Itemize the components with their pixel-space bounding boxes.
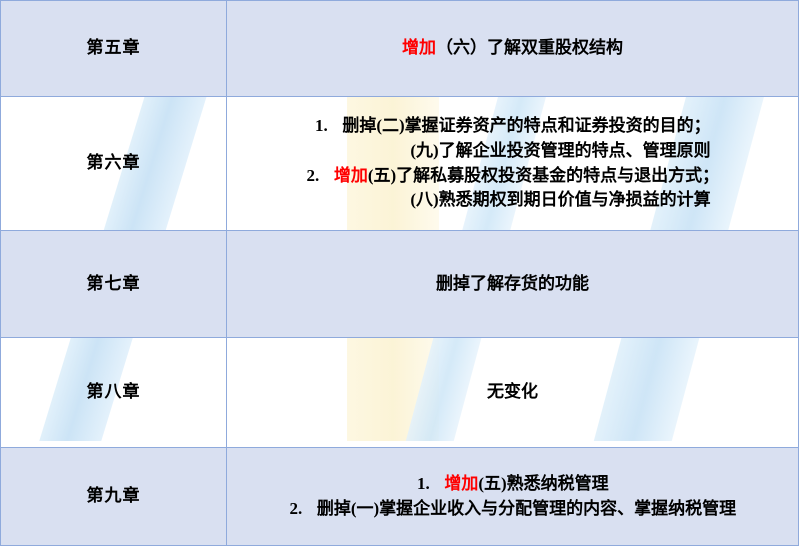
change-text: (五)熟悉纳税管理 xyxy=(478,474,608,493)
table-row: 第九章1.增加(五)熟悉纳税管理2.删掉(一)掌握企业收入与分配管理的内容、掌握… xyxy=(1,448,799,546)
chapter-label-cell: 第九章 xyxy=(1,448,227,546)
chapter-label-cell: 第六章 xyxy=(1,97,227,231)
change-text: 删掉了解存货的功能 xyxy=(436,274,589,293)
change-line: 增加（六）了解双重股权结构 xyxy=(231,36,794,61)
change-text: (九)了解企业投资管理的特点、管理原则 xyxy=(410,141,710,160)
change-line: 无变化 xyxy=(231,380,794,405)
table-body: 第五章增加（六）了解双重股权结构第六章1.删掉(二)掌握证券资产的特点和证券投资… xyxy=(1,1,799,546)
change-line: (八)熟悉期权到期日价值与净损益的计算 xyxy=(231,188,794,213)
list-number: 2. xyxy=(289,497,303,522)
table-row: 第六章1.删掉(二)掌握证券资产的特点和证券投资的目的；(九)了解企业投资管理的… xyxy=(1,97,799,231)
change-detail-cell: 1.删掉(二)掌握证券资产的特点和证券投资的目的；(九)了解企业投资管理的特点、… xyxy=(227,97,799,231)
list-number: 1. xyxy=(314,114,328,139)
table-row: 第八章无变化 xyxy=(1,338,799,448)
change-text: 删掉(二)掌握证券资产的特点和证券投资的目的； xyxy=(342,116,710,135)
list-number: 2. xyxy=(306,164,320,189)
table-row: 第七章删掉了解存货的功能 xyxy=(1,231,799,338)
change-detail-cell: 增加（六）了解双重股权结构 xyxy=(227,1,799,97)
change-text: (八)熟悉期权到期日价值与净损益的计算 xyxy=(410,190,710,209)
change-line: (九)了解企业投资管理的特点、管理原则 xyxy=(231,139,794,164)
list-number: 1. xyxy=(416,472,430,497)
chapter-label-cell: 第七章 xyxy=(1,231,227,338)
change-line: 删掉了解存货的功能 xyxy=(231,272,794,297)
change-detail-cell: 1.增加(五)熟悉纳税管理2.删掉(一)掌握企业收入与分配管理的内容、掌握纳税管… xyxy=(227,448,799,546)
change-detail-cell: 无变化 xyxy=(227,338,799,448)
change-line: 1.删掉(二)掌握证券资产的特点和证券投资的目的； xyxy=(231,114,794,139)
syllabus-comparison-table: 第五章增加（六）了解双重股权结构第六章1.删掉(二)掌握证券资产的特点和证券投资… xyxy=(0,0,799,546)
chapter-label-cell: 第五章 xyxy=(1,1,227,97)
change-text: （六）了解双重股权结构 xyxy=(436,38,623,57)
change-text: (五)了解私募股权投资基金的特点与退出方式； xyxy=(368,166,719,185)
added-marker-text: 增加 xyxy=(402,38,436,57)
table-row: 第五章增加（六）了解双重股权结构 xyxy=(1,1,799,97)
chapter-label-cell: 第八章 xyxy=(1,338,227,448)
change-line: 1.增加(五)熟悉纳税管理 xyxy=(231,472,794,497)
change-text: 删掉(一)掌握企业收入与分配管理的内容、掌握纳税管理 xyxy=(317,499,736,518)
change-line: 2.增加(五)了解私募股权投资基金的特点与退出方式； xyxy=(231,164,794,189)
change-line: 2.删掉(一)掌握企业收入与分配管理的内容、掌握纳税管理 xyxy=(231,497,794,522)
added-marker-text: 增加 xyxy=(334,166,368,185)
change-text: 无变化 xyxy=(487,382,538,401)
added-marker-text: 增加 xyxy=(444,474,478,493)
change-detail-cell: 删掉了解存货的功能 xyxy=(227,231,799,338)
